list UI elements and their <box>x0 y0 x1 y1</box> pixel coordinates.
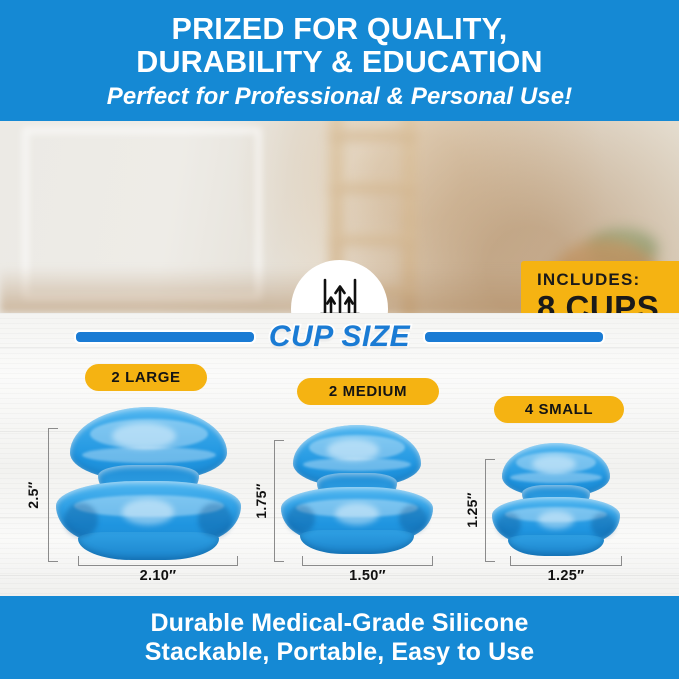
divider-bar-left <box>74 330 256 344</box>
cup-tag-medium: 2 MEDIUM <box>297 378 439 405</box>
measure-line-small-height <box>485 459 486 562</box>
cup-size-heading-row: CUP SIZE <box>0 320 679 354</box>
measure-line-large-width <box>78 565 238 566</box>
measure-label-large-height: 2.5″ <box>25 470 41 520</box>
footer-line1: Durable Medical-Grade Silicone <box>150 609 528 638</box>
page-title: PRIZED FOR QUALITY, DURABILITY & EDUCATI… <box>136 13 543 79</box>
cup-tag-small: 4 SMALL <box>494 396 624 423</box>
page-subtitle: Perfect for Professional & Personal Use! <box>107 83 572 110</box>
measure-label-small-width: 1.25″ <box>510 568 622 584</box>
measure-label-large-width: 2.10″ <box>78 568 238 584</box>
cup-image-medium <box>281 425 433 559</box>
measure-line-medium-width <box>302 565 433 566</box>
measure-line-large-height <box>48 428 49 562</box>
page-title-line2: DURABILITY & EDUCATION <box>136 45 543 79</box>
cup-image-small <box>492 443 620 560</box>
measure-label-medium-height: 1.75″ <box>253 476 269 526</box>
suction-cup-arrows-icon <box>311 276 369 314</box>
measure-label-medium-width: 1.50″ <box>302 568 433 584</box>
cup-size-heading: CUP SIZE <box>269 320 410 354</box>
divider-bar-right <box>423 330 605 344</box>
footer-line2: Stackable, Portable, Easy to Use <box>145 638 534 667</box>
measure-line-medium-height <box>274 440 275 562</box>
header-banner: PRIZED FOR QUALITY, DURABILITY & EDUCATI… <box>0 0 679 121</box>
product-infographic: PRIZED FOR QUALITY, DURABILITY & EDUCATI… <box>0 0 679 679</box>
includes-badge: INCLUDES: 8 CUPS <box>521 261 679 313</box>
lifestyle-photo-section: 3 Suction Levels LIGHT MEDIUM STRONG INC… <box>0 121 679 313</box>
measure-label-small-height: 1.25″ <box>464 485 480 535</box>
includes-badge-label: INCLUDES: <box>537 270 679 289</box>
measure-line-small-width <box>510 565 622 566</box>
cup-tag-large: 2 LARGE <box>85 364 207 391</box>
cup-image-large <box>56 407 241 562</box>
includes-badge-value: 8 CUPS <box>537 290 679 313</box>
page-title-line1: PRIZED FOR QUALITY, <box>172 12 508 46</box>
footer-banner: Durable Medical-Grade Silicone Stackable… <box>0 596 679 679</box>
